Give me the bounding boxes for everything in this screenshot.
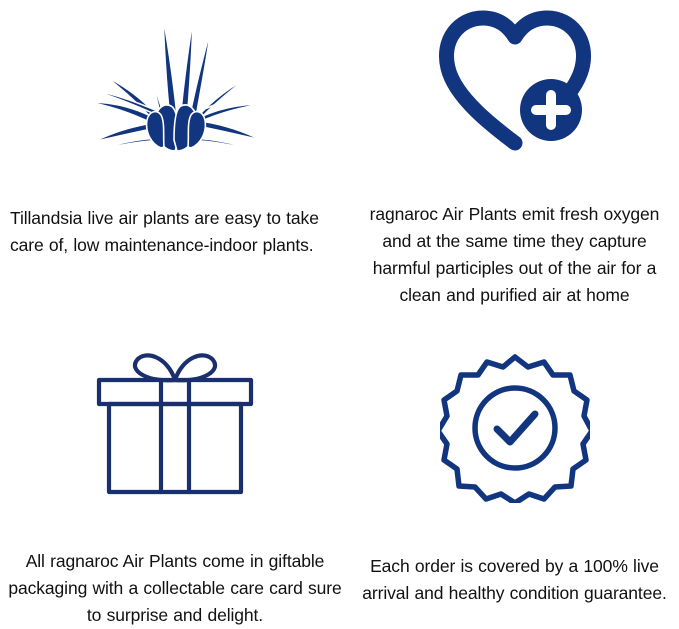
verified-badge-icon (440, 353, 590, 503)
bow-loop-right (175, 355, 215, 380)
feature-text-air-plant-care: Tillandsia live air plants are easy to t… (5, 152, 345, 259)
gift-lid (99, 380, 251, 404)
gift-box-icon (89, 348, 261, 498)
feature-text-live-arrival-guarantee: Each order is covered by a 100% live arr… (353, 503, 677, 607)
badge-inner-circle (475, 388, 555, 468)
feature-cell-giftable-packaging: All ragnaroc Air Plants come in giftable… (0, 308, 350, 617)
air-plant-icon (75, 10, 275, 152)
gift-body (109, 404, 241, 492)
gift-box-icon-wrap (89, 308, 261, 498)
feature-cell-live-arrival-guarantee: Each order is covered by a 100% live arr… (350, 308, 679, 617)
checkmark-glyph (497, 414, 535, 442)
bow-loop-left (135, 355, 175, 380)
feature-cell-air-plant-care: Tillandsia live air plants are easy to t… (0, 0, 350, 308)
heart-plus-icon (435, 10, 595, 152)
feature-text-giftable-packaging: All ragnaroc Air Plants come in giftable… (8, 498, 342, 629)
heart-plus-icon-wrap (435, 0, 595, 152)
feature-grid: Tillandsia live air plants are easy to t… (0, 0, 679, 617)
feature-cell-fresh-oxygen: ragnaroc Air Plants emit fresh oxygen an… (350, 0, 679, 308)
feature-text-fresh-oxygen: ragnaroc Air Plants emit fresh oxygen an… (354, 152, 676, 309)
verified-badge-icon-wrap (440, 308, 590, 503)
badge-starburst (440, 357, 590, 503)
air-plant-icon-wrap (75, 0, 275, 152)
